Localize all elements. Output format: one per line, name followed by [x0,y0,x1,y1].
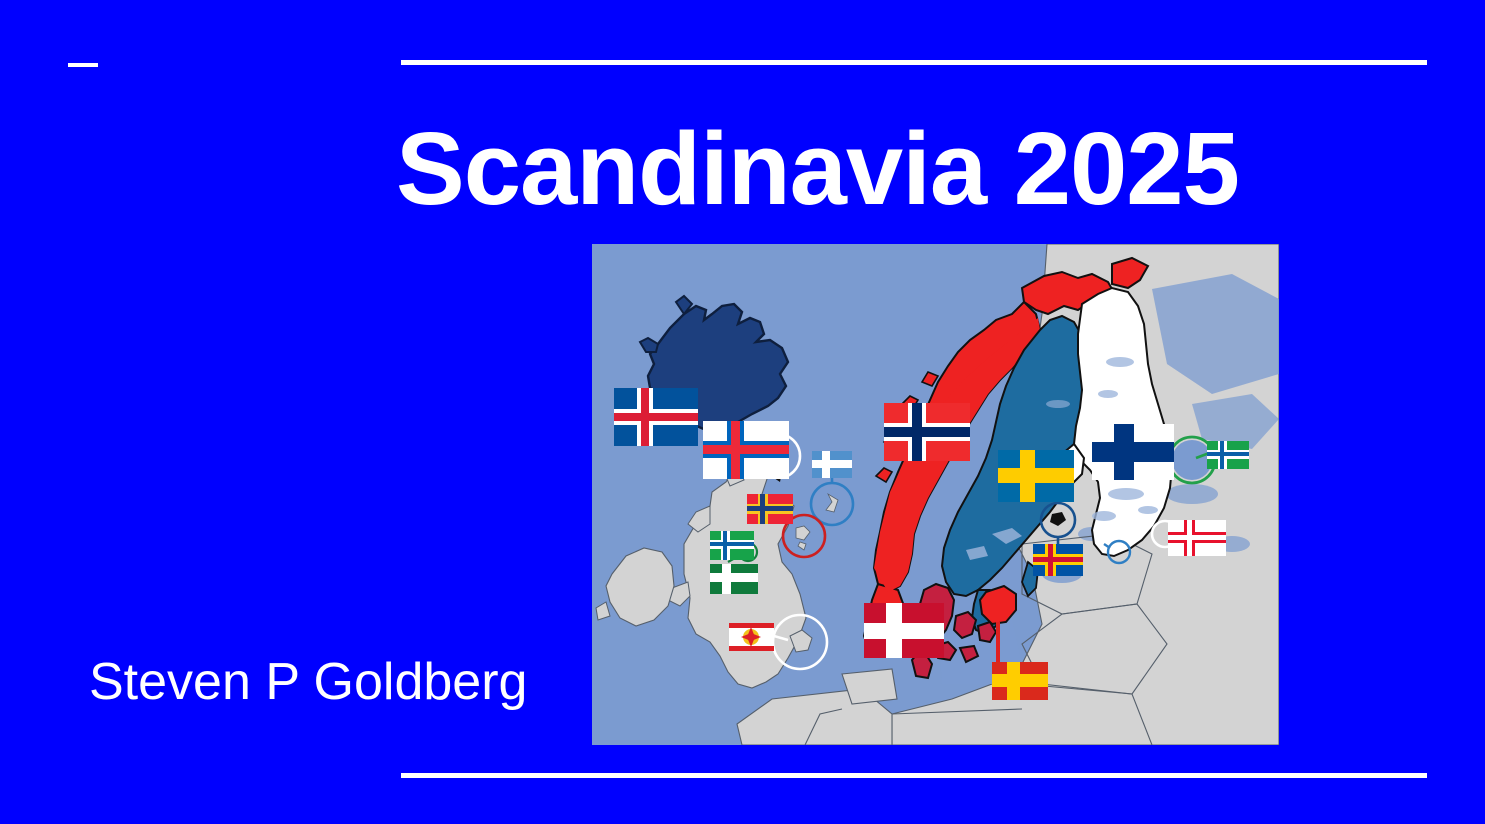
author-subtitle: Steven P Goldberg [89,652,527,712]
presentation-slide: Scandinavia 2025 Steven P Goldberg [0,0,1485,824]
scandinavia-map-image [592,244,1279,745]
page-title: Scandinavia 2025 [396,108,1436,230]
corner-dash-decoration [68,63,98,67]
bottom-divider-rule [401,773,1427,778]
top-divider-rule [401,60,1427,65]
